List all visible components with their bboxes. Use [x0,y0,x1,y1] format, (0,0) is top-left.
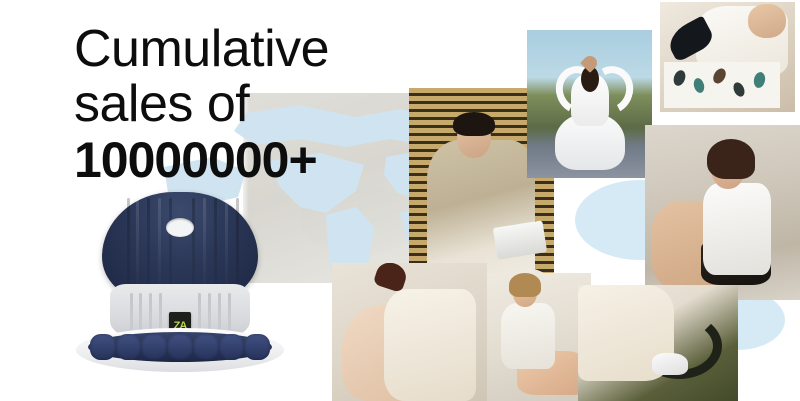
tr-face [748,4,786,38]
tr-patterned-fabric [664,62,780,108]
bm-hair [509,273,541,297]
laptop-icon [493,220,547,259]
man-hair [453,112,495,136]
headline-line-1: Cumulative [74,22,404,77]
woman-white-shirt [703,183,771,275]
photo-seated-woman-shirt [645,125,800,300]
headline-number: 10000000+ [74,134,404,187]
chair-seat-cushion [88,332,272,362]
headline: Cumulative sales of 10000000+ [74,22,404,187]
bl-draped-fabric [384,289,476,401]
promo-banner: Cumulative sales of 10000000+ [0,0,800,401]
chair-handle-hole [166,218,194,237]
bm-dress [501,303,555,369]
photo-cream-legs-fabric [332,263,487,401]
br-sneaker [652,353,688,375]
headline-line-2: sales of [74,77,404,132]
product-posture-chair: ZA [72,192,288,372]
photo-sneakers-on-grass [578,285,738,401]
photo-seated-woman-dress [487,273,591,401]
woman-hair [707,139,755,179]
photo-lifestyle-patterned [660,2,795,112]
photo-yoga-woman-outdoor [527,30,652,178]
